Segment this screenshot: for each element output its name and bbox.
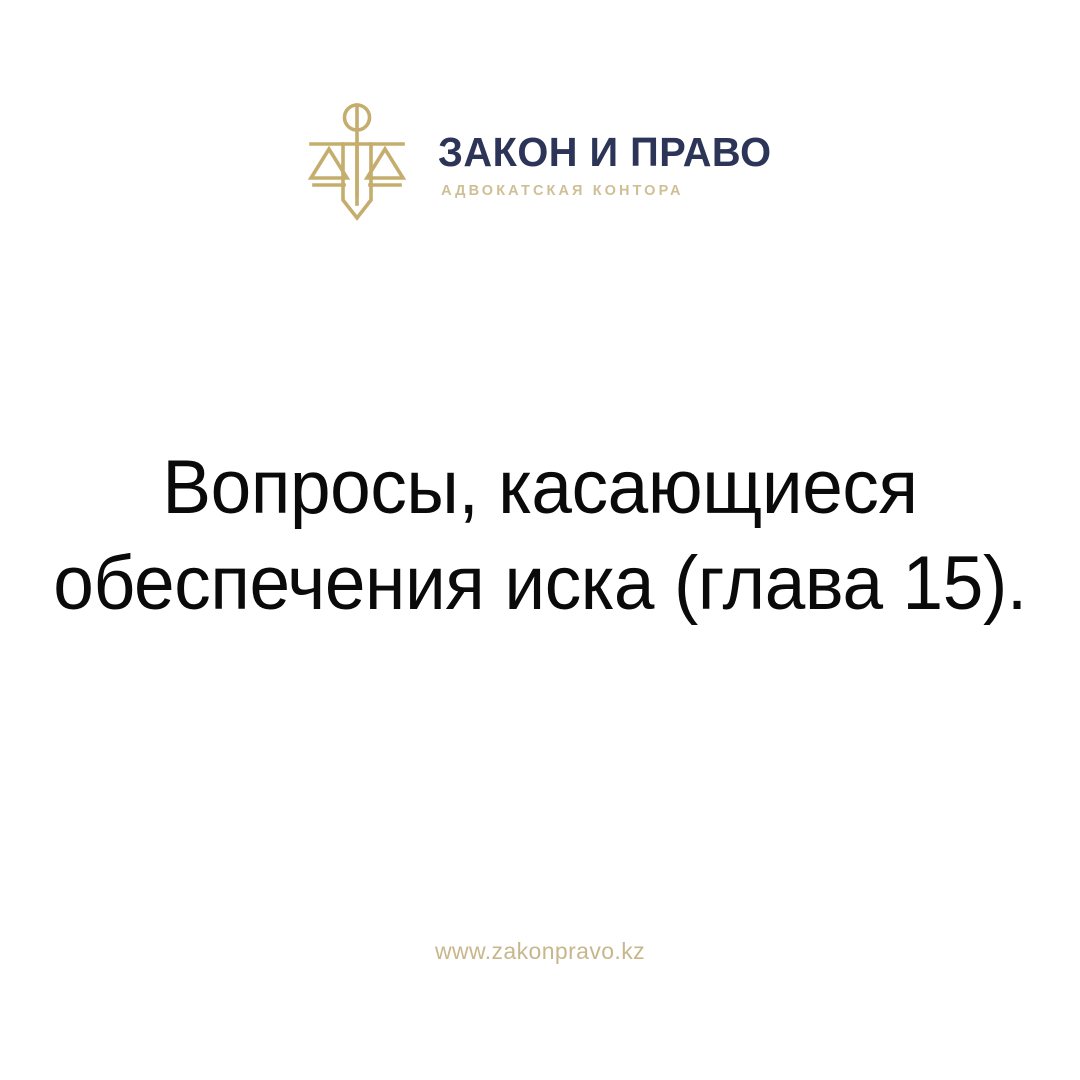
logo-mark (298, 100, 416, 226)
brand-name: ЗАКОН И ПРАВО (438, 132, 772, 174)
page-title: Вопросы, касающиеся обеспечения иска (гл… (39, 440, 1041, 632)
brand-tagline: АДВОКАТСКАЯ КОНТОРА (441, 184, 684, 200)
footer: www.zakonpravo.kz (0, 938, 1080, 965)
scales-of-justice-icon (298, 100, 416, 226)
logo-wordmark: ЗАКОН И ПРАВО АДВОКАТСКАЯ КОНТОРА (438, 126, 782, 200)
website-url[interactable]: www.zakonpravo.kz (435, 938, 645, 965)
logo-lockup[interactable]: ЗАКОН И ПРАВО АДВОКАТСКАЯ КОНТОРА (0, 100, 1080, 226)
headline-block: Вопросы, касающиеся обеспечения иска (гл… (0, 440, 1080, 632)
poster-canvas: ЗАКОН И ПРАВО АДВОКАТСКАЯ КОНТОРА Вопрос… (0, 0, 1080, 1080)
